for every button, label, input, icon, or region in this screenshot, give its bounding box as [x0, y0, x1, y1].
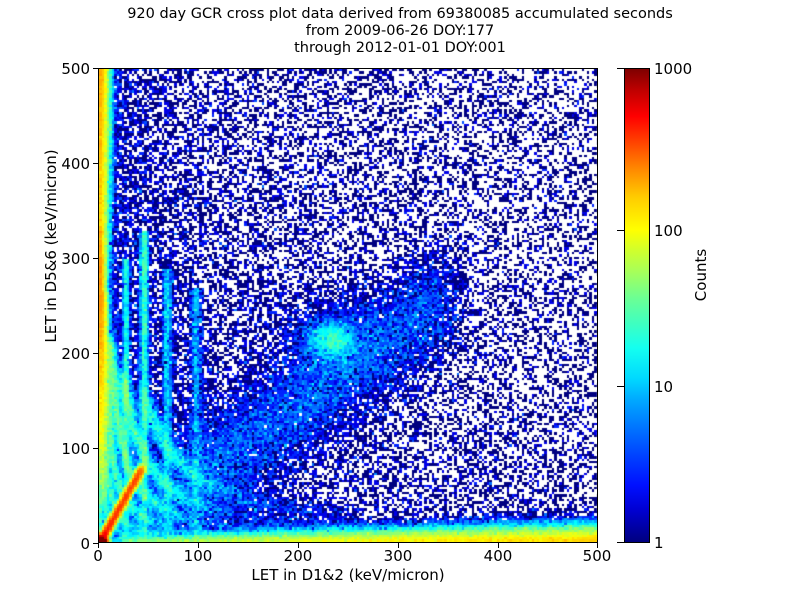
x-ticklabel-500: 500	[567, 547, 627, 565]
colorbar-tick-10	[617, 386, 624, 387]
colorbar-tick-1000	[617, 68, 624, 69]
chart-title: 920 day GCR cross plot data derived from…	[0, 6, 800, 57]
colorbar-ticklabel-1000: 1000	[654, 60, 692, 78]
colorbar-tick-100	[617, 230, 624, 231]
x-ticklabel-200: 200	[268, 547, 328, 565]
y-tick-500	[93, 68, 98, 69]
chart-title-line-1: 920 day GCR cross plot data derived from…	[0, 6, 800, 23]
x-ticklabel-300: 300	[368, 547, 428, 565]
colorbar-ticklabel-100: 100	[654, 222, 683, 240]
chart-title-line-2: from 2009-06-26 DOY:177	[0, 23, 800, 40]
colorbar[interactable]	[624, 68, 650, 543]
x-axis-label: LET in D1&2 (keV/micron)	[98, 566, 598, 584]
y-tick-0	[93, 543, 98, 544]
chart-title-line-3: through 2012-01-01 DOY:001	[0, 40, 800, 57]
colorbar-gradient	[625, 69, 649, 542]
y-tick-100	[93, 448, 98, 449]
y-tick-200	[93, 353, 98, 354]
density-heatmap	[99, 69, 598, 543]
y-ticklabel-500: 500	[44, 60, 90, 78]
plot-area[interactable]	[98, 68, 598, 543]
colorbar-tick-1	[617, 542, 624, 543]
y-ticklabel-100: 100	[44, 440, 90, 458]
x-ticklabel-100: 100	[168, 547, 228, 565]
figure-canvas: 920 day GCR cross plot data derived from…	[0, 0, 800, 600]
y-axis-label: LET in D5&6 (keV/micron)	[42, 96, 60, 396]
colorbar-ticklabel-1: 1	[654, 534, 664, 552]
x-ticklabel-400: 400	[468, 547, 528, 565]
y-tick-400	[93, 163, 98, 164]
y-ticklabel-0: 0	[44, 535, 90, 553]
colorbar-label: Counts	[692, 195, 710, 355]
colorbar-ticklabel-10: 10	[654, 378, 673, 396]
y-tick-300	[93, 258, 98, 259]
